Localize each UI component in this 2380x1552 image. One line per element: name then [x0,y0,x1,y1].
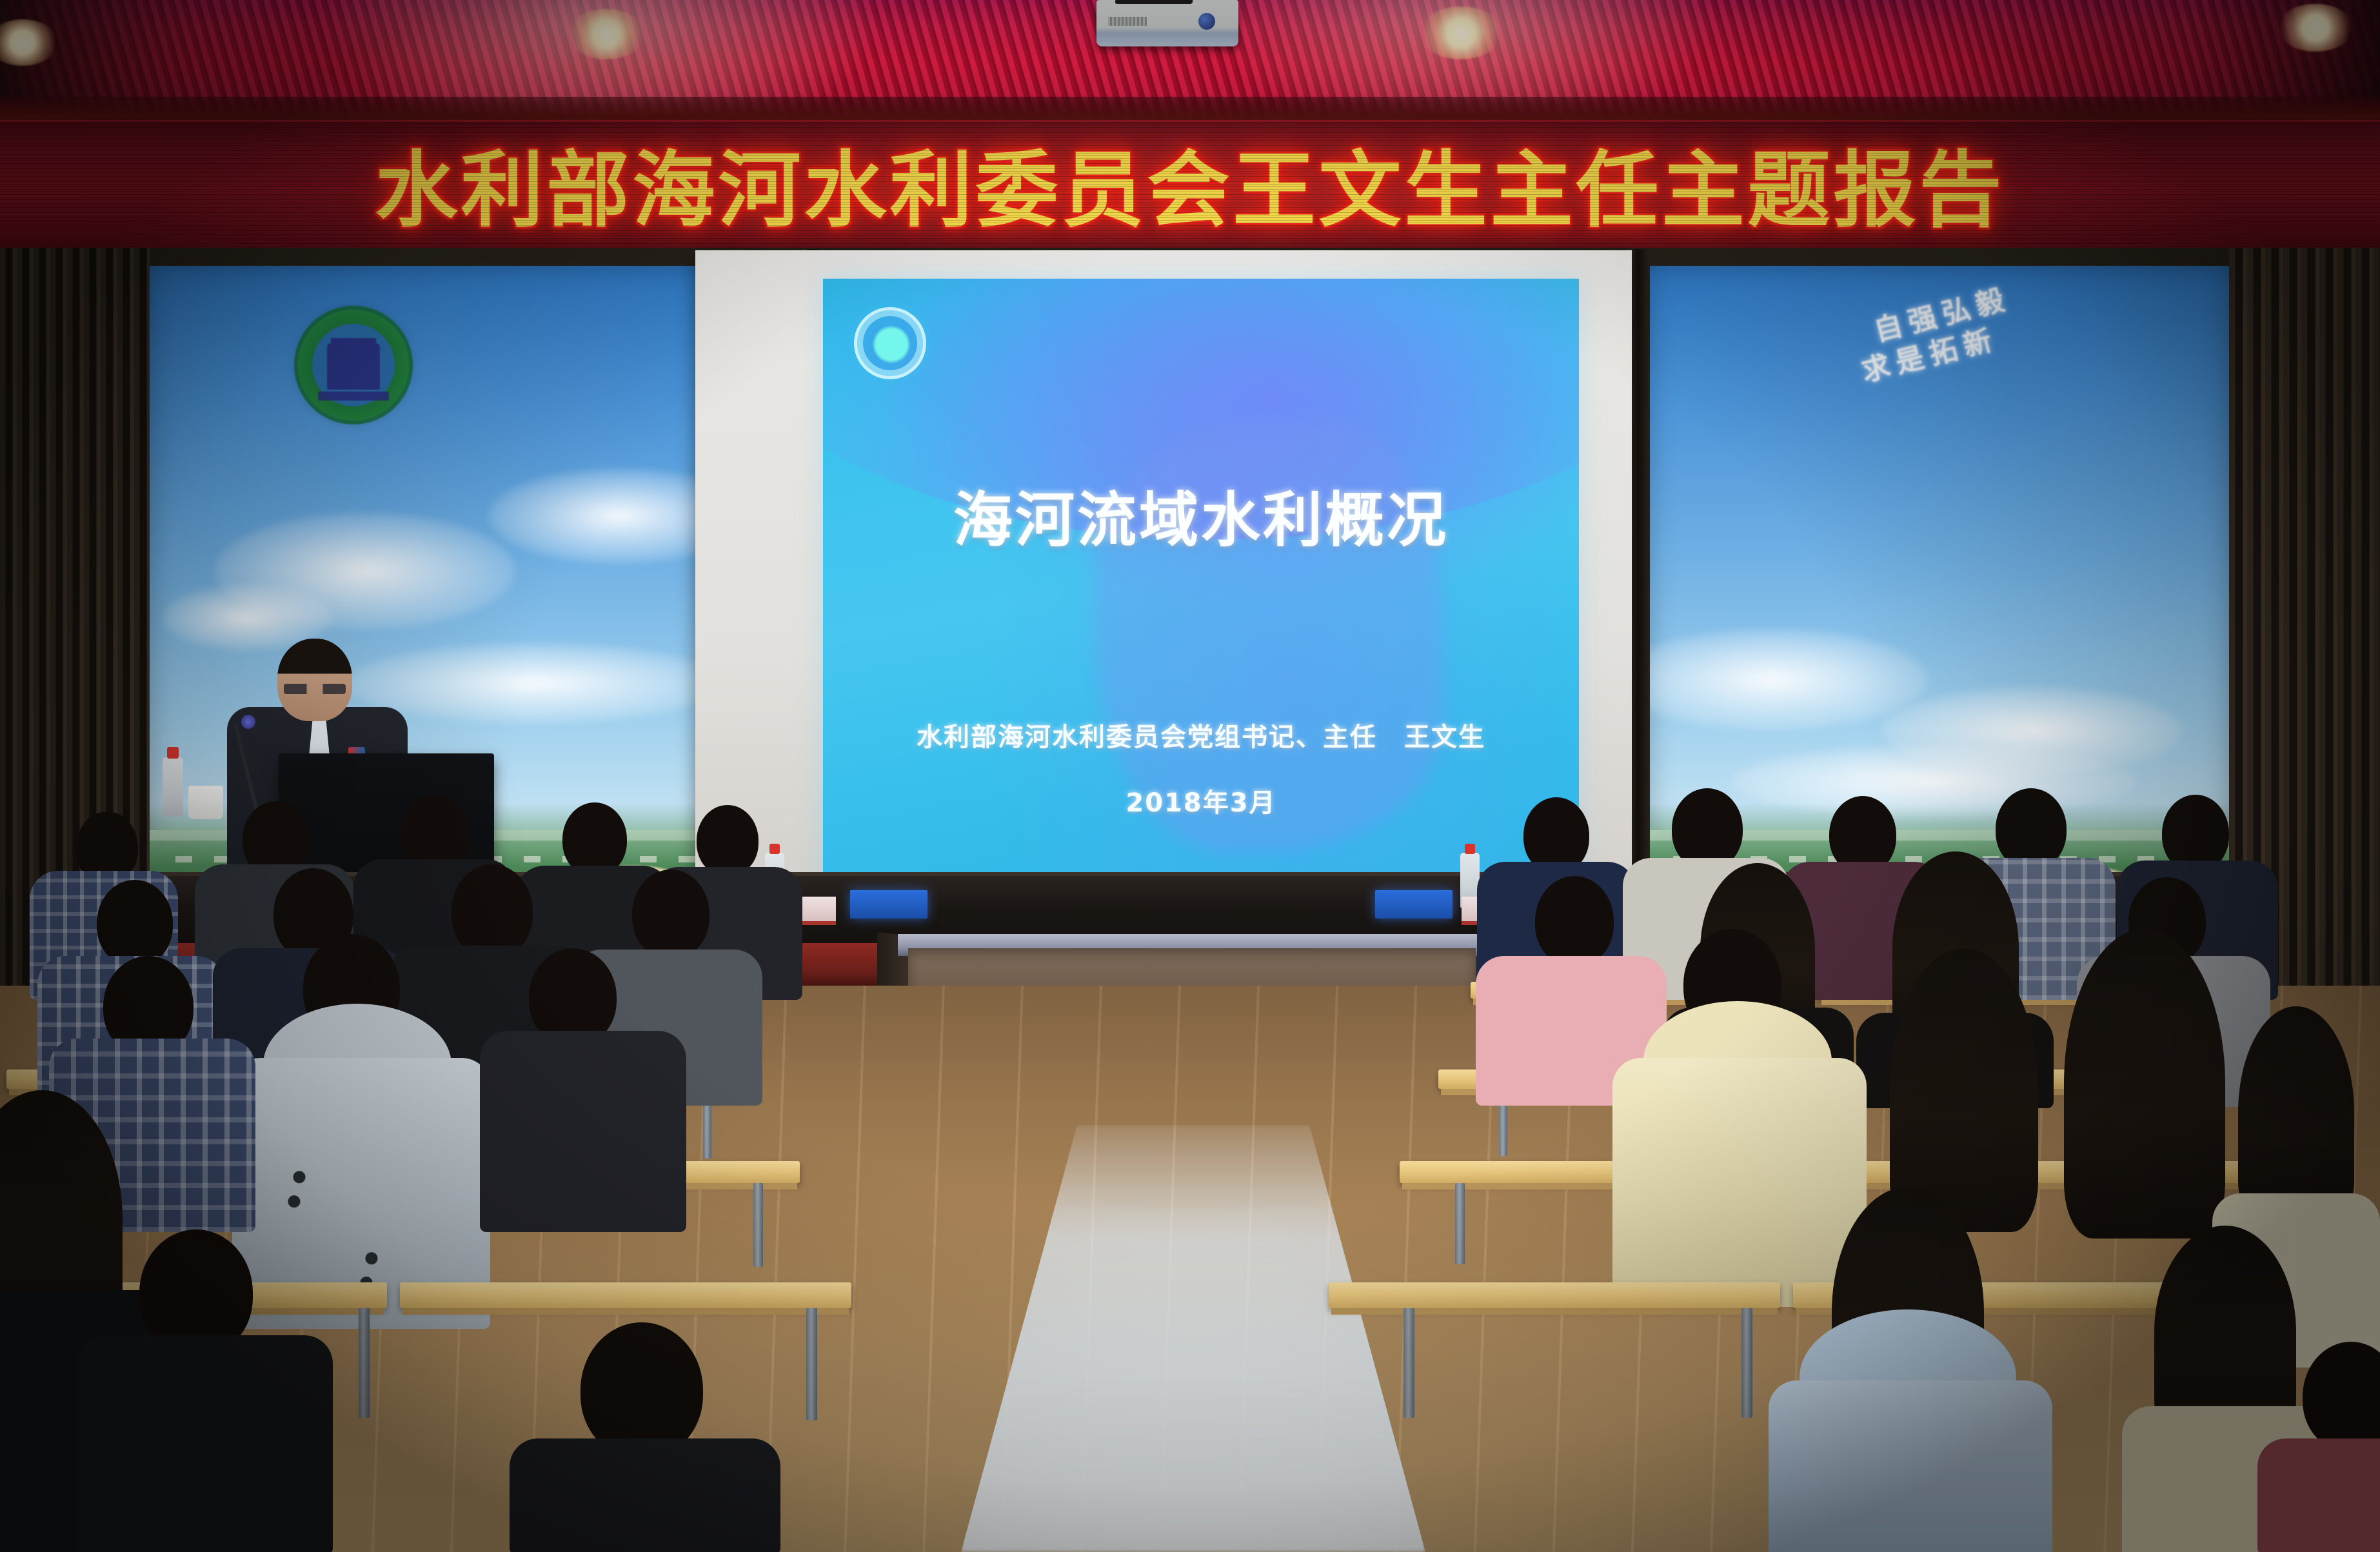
ceiling-projector-icon [1096,0,1238,46]
lecture-hall-scene: 水利部海河水利委员会王文生主任主题报告 自强弘毅 求是拓新 海河流域 [0,0,2380,1552]
cloud-shape [346,643,724,723]
ceiling-downlight [1419,6,1503,59]
projected-slide: 海河流域水利概况 水利部海河水利委员会党组书记、主任 王文生 2018年3月 [823,279,1579,930]
person-hair [2238,1006,2354,1219]
person-head [1535,876,1614,966]
desk [1329,1282,1780,1308]
person-torso [510,1438,780,1552]
person-head [562,802,627,876]
presenter-head [277,639,352,721]
slide-title: 海河流域水利概况 [823,472,1579,558]
slide-date-line: 2018年3月 [823,782,1579,819]
person-torso [1612,1058,1867,1307]
university-emblem [298,310,409,421]
laptop-screen [1375,890,1453,919]
cloud-shape [1731,745,2137,818]
water-bottle-icon [163,757,183,817]
projector-vent [1108,17,1147,26]
person-head [451,864,533,959]
desk-leg [753,1183,763,1267]
person-head [697,805,759,876]
person-hair [2064,929,2225,1239]
cloud-shape [1650,629,1928,731]
person-torso [480,1031,686,1232]
person-torso [2257,1438,2380,1552]
microphone-icon [241,715,255,729]
desk-leg [359,1308,370,1418]
laptop-screen [850,890,927,919]
slide-presenter-line: 水利部海河水利委员会党组书记、主任 王文生 [823,716,1579,753]
desk-leg [1741,1308,1752,1418]
person-torso [1769,1380,2052,1552]
person-head [632,870,709,959]
desk-leg [1403,1308,1414,1418]
paper-cup-icon [188,786,223,819]
person-head [97,880,173,966]
glasses-icon [284,684,346,694]
person-torso [77,1335,333,1552]
ceiling-downlight [2277,4,2354,52]
haihe-water-commission-emblem-icon [854,307,926,379]
banner-title-text: 水利部海河水利委员会王文生主任主题报告 [0,123,2380,242]
led-banner: 水利部海河水利委员会王文生主任主题报告 [0,120,2380,248]
desk-leg [1455,1183,1465,1264]
projector-lens-icon [1198,13,1215,30]
desk [400,1282,851,1308]
desk-leg [806,1308,817,1420]
person-head [580,1322,703,1458]
ceiling-downlight [568,9,645,59]
